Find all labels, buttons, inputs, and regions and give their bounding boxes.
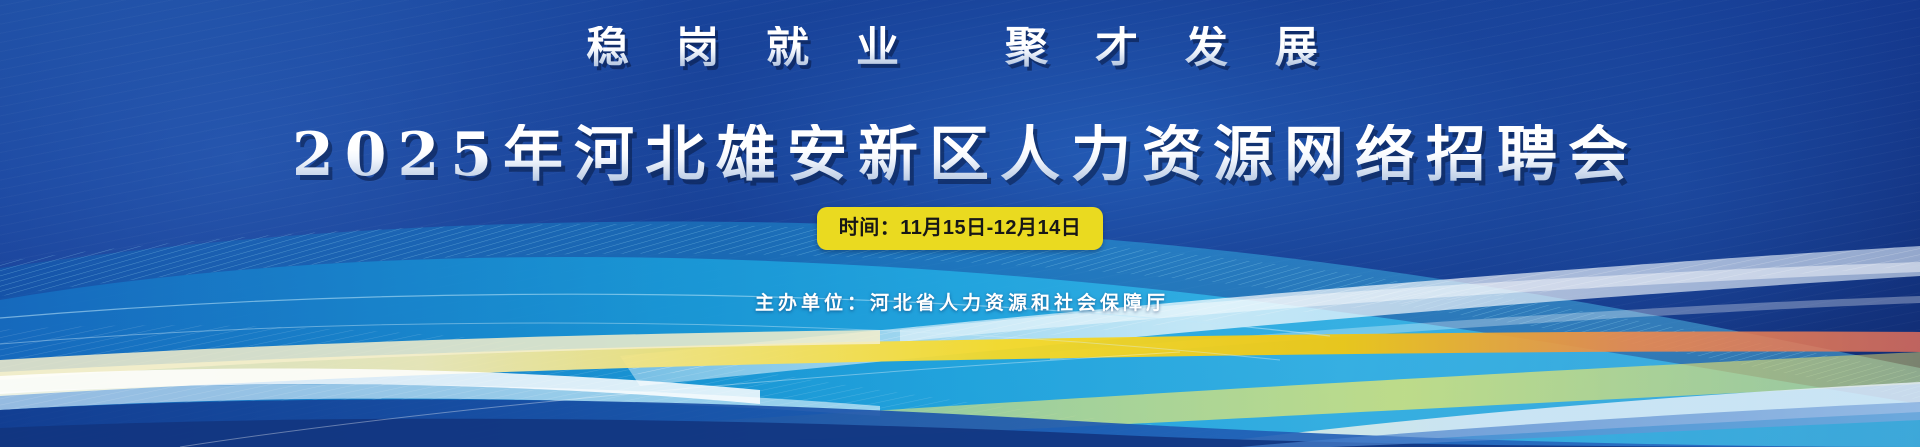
banner-content: 稳 岗 就 业 聚 才 发 展 2025年河北雄安新区人力资源网络招聘会 时间：… [0,0,1920,447]
event-date-badge: 时间：11月15日-12月14日 [817,207,1104,250]
banner-tagline: 稳 岗 就 业 聚 才 发 展 [0,26,1920,71]
date-badge-container: 时间：11月15日-12月14日 [0,207,1920,250]
page-title: 2025年河北雄安新区人力资源网络招聘会 [0,124,1920,188]
recruitment-banner: 稳 岗 就 业 聚 才 发 展 2025年河北雄安新区人力资源网络招聘会 时间：… [0,0,1920,447]
organizer-text: 主办单位：河北省人力资源和社会保障厅 [0,288,1920,315]
